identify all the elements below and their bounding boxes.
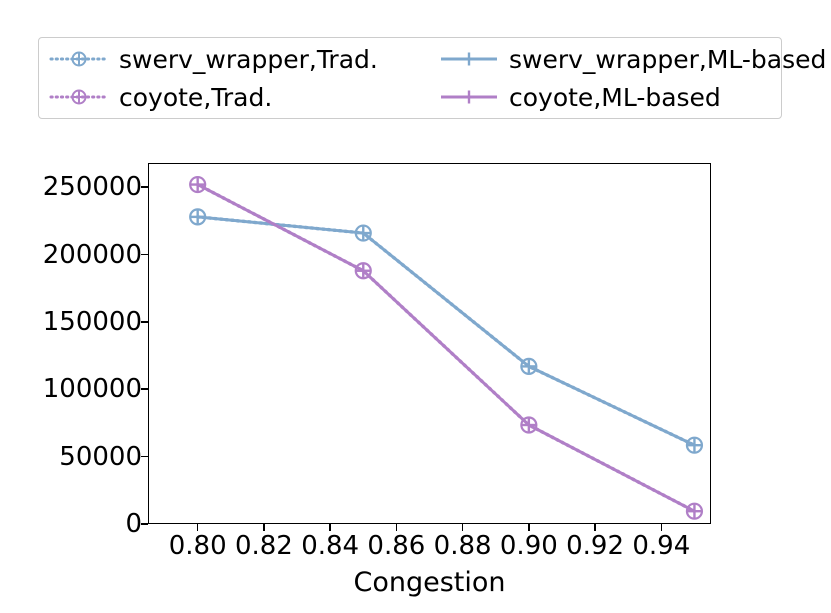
figure-canvas: swerv_wrapper,Trad. swerv_wrapper,ML-bas… — [0, 0, 831, 613]
x-axis-title: Congestion — [148, 569, 711, 596]
y-tick-mark — [141, 456, 148, 458]
y-tick-label: 200000 — [0, 242, 142, 268]
y-tick-mark — [141, 321, 148, 323]
legend-label-swerv-ml: swerv_wrapper,ML-based — [509, 47, 826, 72]
legend-swatch-swerv-trad — [49, 48, 109, 70]
x-tick-mark — [329, 524, 331, 531]
y-tick-label: 100000 — [0, 376, 142, 402]
y-tick-mark — [141, 254, 148, 256]
legend-entry-swerv-trad: swerv_wrapper,Trad. — [49, 47, 439, 72]
x-tick-mark — [197, 524, 199, 531]
y-tick-label: 250000 — [0, 174, 142, 200]
chart-legend: swerv_wrapper,Trad. swerv_wrapper,ML-bas… — [38, 37, 782, 119]
x-tick-mark — [594, 524, 596, 531]
y-tick-label: 50000 — [0, 444, 142, 470]
x-tick-mark — [661, 524, 663, 531]
legend-swatch-coyote-trad — [49, 86, 109, 108]
x-tick-mark — [263, 524, 265, 531]
legend-label-coyote-trad: coyote,Trad. — [119, 85, 272, 110]
series-line-2 — [198, 217, 695, 445]
y-tick-label: 0 — [0, 511, 142, 537]
x-tick-mark — [462, 524, 464, 531]
x-tick-mark — [396, 524, 398, 531]
x-tick-mark — [528, 524, 530, 531]
series-line-3 — [198, 185, 695, 512]
legend-entry-swerv-ml: swerv_wrapper,ML-based — [439, 47, 826, 72]
plot-series-layer — [148, 163, 711, 524]
legend-label-swerv-trad: swerv_wrapper,Trad. — [119, 47, 378, 72]
legend-entry-coyote-ml: coyote,ML-based — [439, 85, 826, 110]
legend-swatch-coyote-ml — [439, 86, 499, 108]
y-tick-mark — [141, 186, 148, 188]
legend-swatch-swerv-ml — [439, 48, 499, 70]
legend-label-coyote-ml: coyote,ML-based — [509, 85, 721, 110]
y-tick-mark — [141, 388, 148, 390]
x-tick-label: 0.94 — [601, 533, 721, 559]
y-tick-label: 150000 — [0, 309, 142, 335]
legend-entry-coyote-trad: coyote,Trad. — [49, 85, 439, 110]
y-tick-mark — [141, 523, 148, 525]
